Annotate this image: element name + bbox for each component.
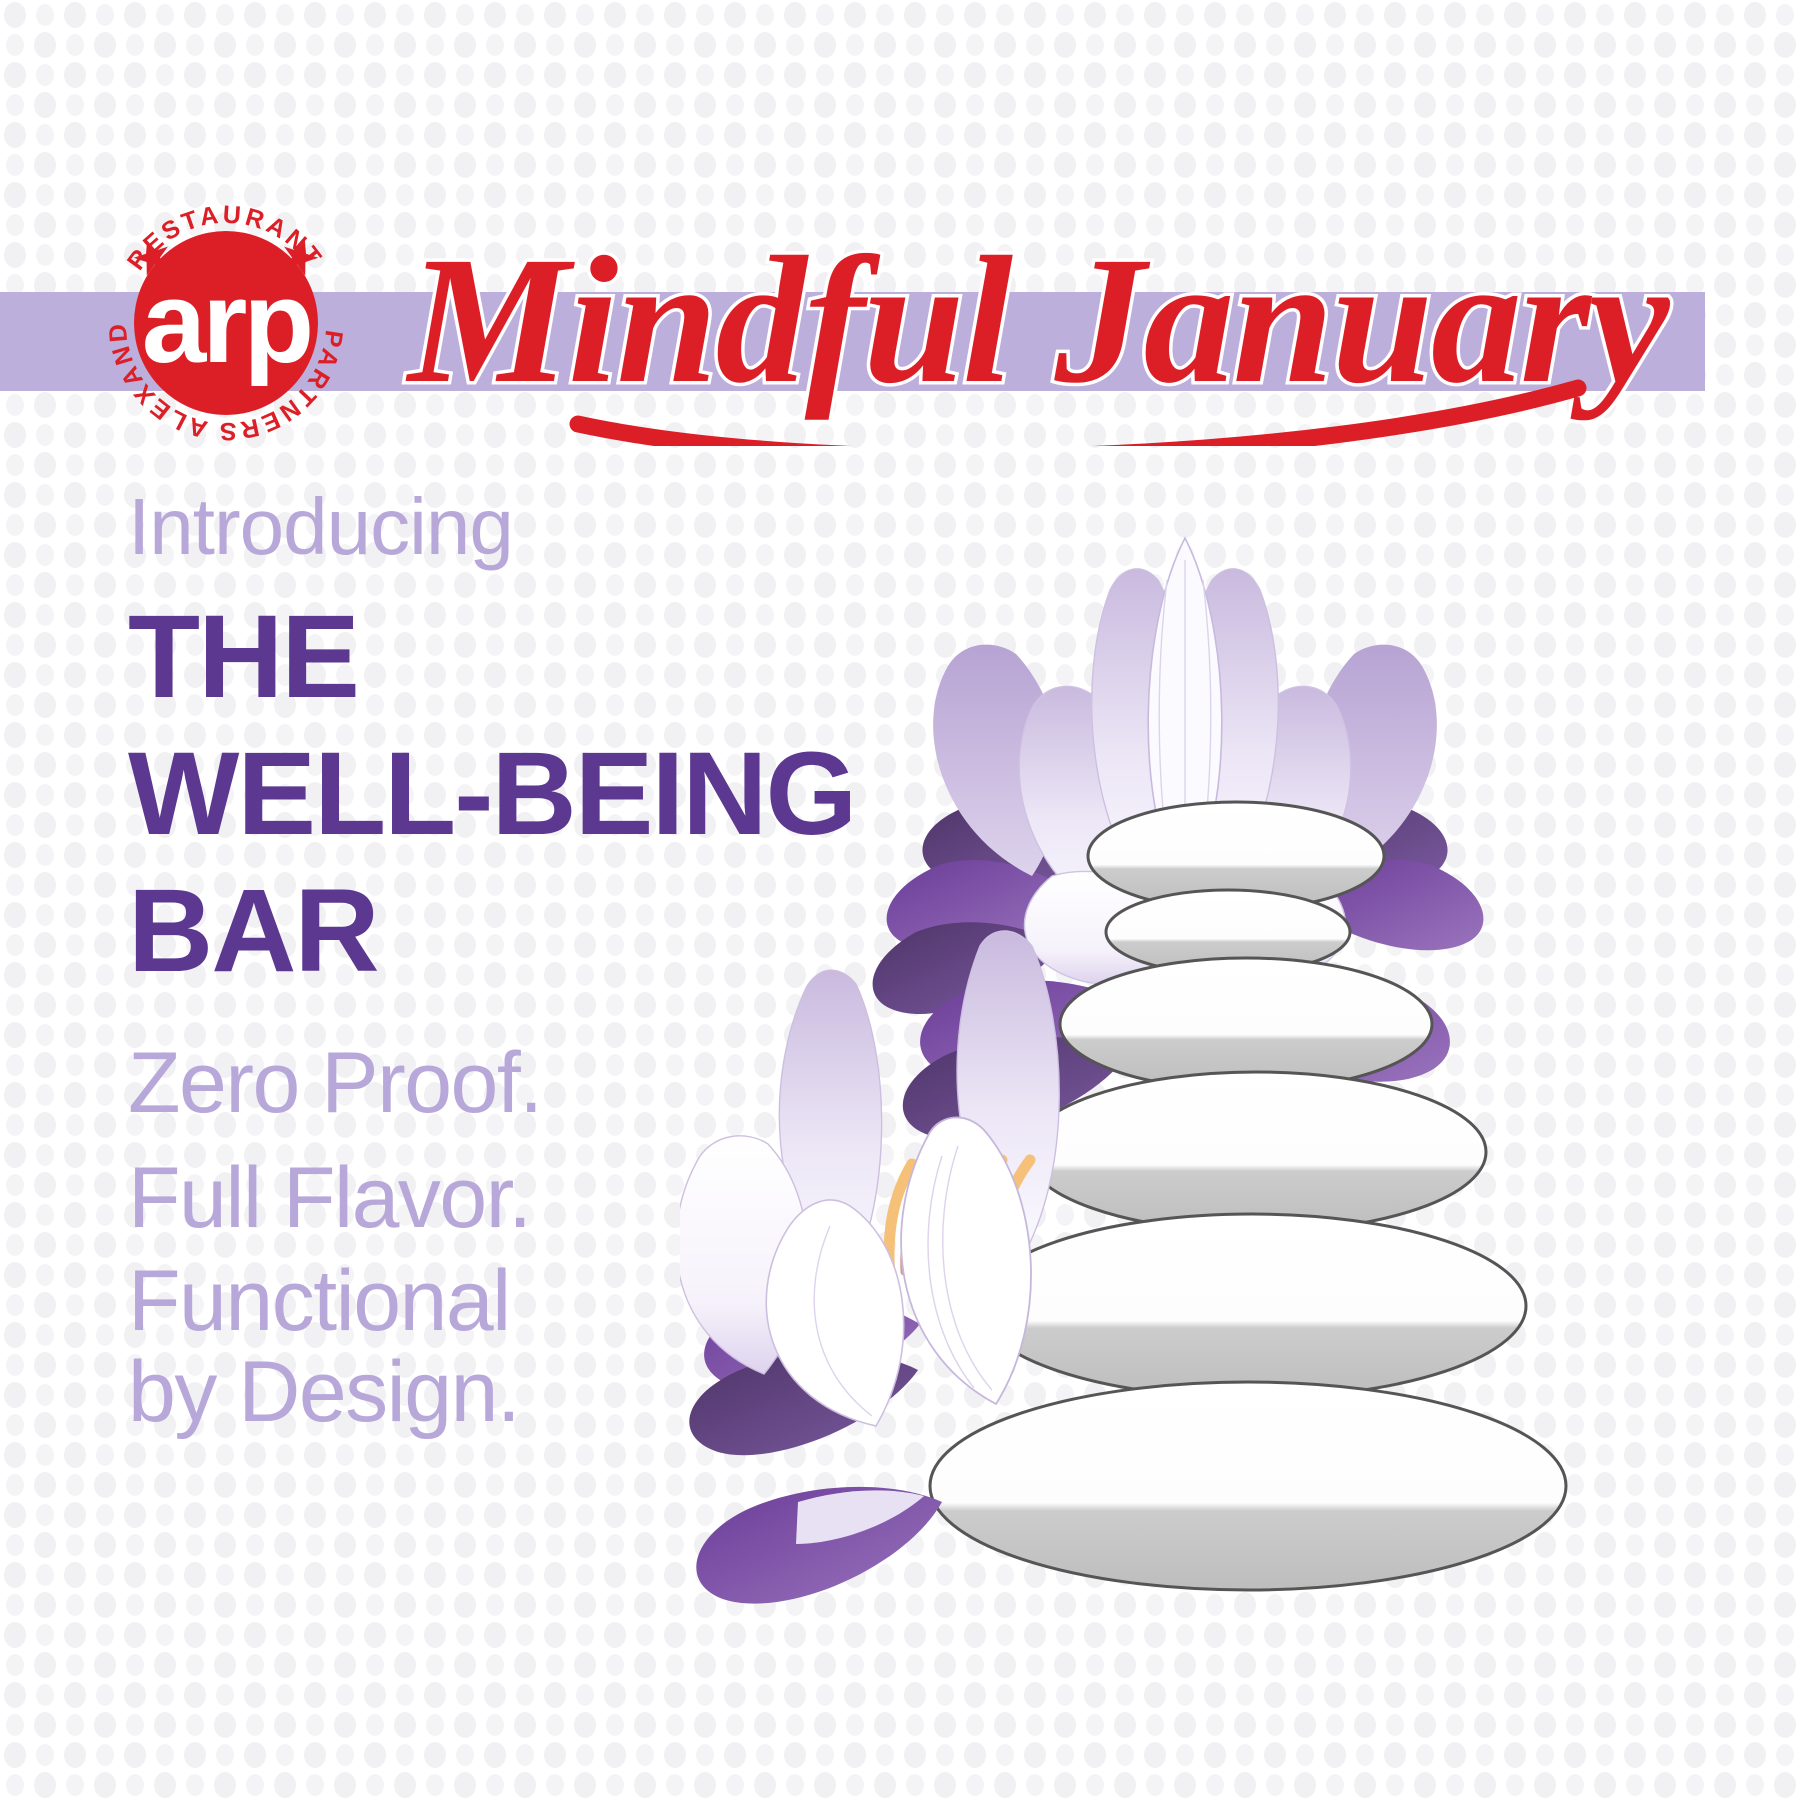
script-title: Mindful January [398, 176, 1718, 446]
logo-wordmark: arp [142, 257, 311, 387]
headline-line-1: THE [128, 589, 888, 726]
tagline-by-design: by Design. [128, 1347, 948, 1438]
headline-line-2: WELL-BEING [128, 726, 888, 863]
tagline-zero-proof: Zero Proof. [128, 1026, 948, 1141]
arp-logo: RESTAURANT ALEXANDRIA PARTNERS arp [95, 192, 357, 454]
poster-canvas: RESTAURANT ALEXANDRIA PARTNERS arp Mindf… [0, 0, 1800, 1800]
headline-line-3: BAR [128, 863, 888, 1000]
tagline-functional: Functional [128, 1256, 948, 1347]
tagline-list: Zero Proof. Full Flavor. Functional by D… [128, 1026, 948, 1439]
script-title-text: Mindful January [405, 220, 1671, 421]
copy-block: Introducing THE WELL-BEING BAR Zero Proo… [128, 487, 948, 1438]
headline: THE WELL-BEING BAR [128, 589, 888, 1000]
tagline-full-flavor: Full Flavor. [128, 1141, 948, 1256]
intro-line: Introducing [128, 487, 948, 567]
